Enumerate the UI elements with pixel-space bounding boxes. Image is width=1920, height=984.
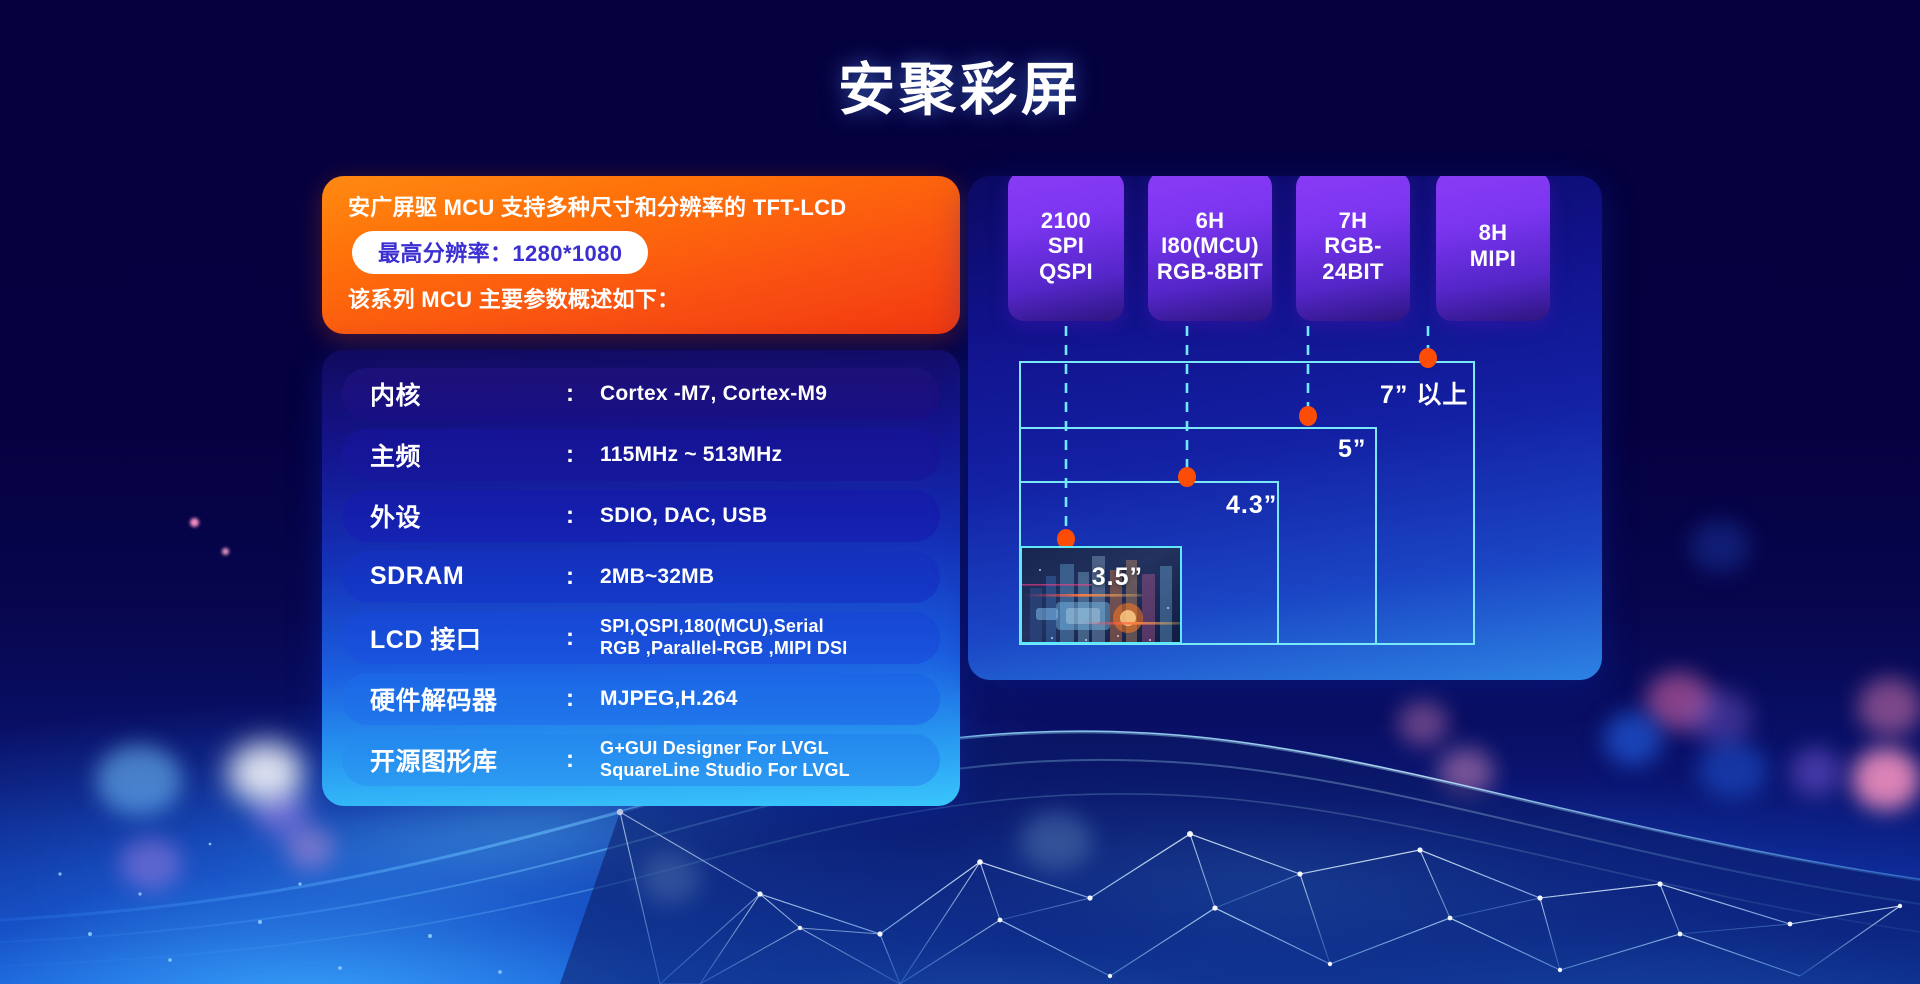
- panel-thumbnail-3p5in: 3.5”: [1020, 546, 1182, 644]
- spec-panel: 内核 : Cortex -M7, Cortex-M9 主频 : 115MHz ~…: [322, 350, 960, 806]
- network-mesh-graphic: [0, 684, 1920, 984]
- spec-separator: :: [566, 380, 600, 408]
- spec-separator: :: [566, 685, 600, 713]
- spec-separator: :: [566, 746, 600, 774]
- background: [0, 0, 1920, 984]
- bokeh-dot: [190, 518, 199, 527]
- interface-panel: 2100 SPI QSPI 6H I80(MCU) RGB-8BIT 7H RG…: [968, 176, 1602, 680]
- spec-row: 硬件解码器 : MJPEG,H.264: [342, 673, 940, 725]
- bokeh-dot: [222, 548, 229, 555]
- spec-separator: :: [566, 624, 600, 652]
- size-label-5in: 5”: [1338, 435, 1366, 464]
- spec-separator: :: [566, 441, 600, 469]
- size-label-7in: 7” 以上: [1380, 375, 1468, 411]
- spec-key: 硬件解码器: [370, 681, 566, 717]
- spec-value: G+GUI Designer For LVGL SquareLine Studi…: [600, 738, 850, 782]
- dot-7in: [1419, 348, 1437, 368]
- resolution-badge: 最高分辨率：1280*1080: [352, 231, 648, 274]
- spec-key: 内核: [370, 376, 566, 412]
- spec-value: Cortex -M7, Cortex-M9: [600, 381, 827, 407]
- spec-separator: :: [566, 502, 600, 530]
- spec-separator: :: [566, 563, 600, 591]
- size-label-43in: 4.3”: [1226, 491, 1277, 520]
- spec-value: MJPEG,H.264: [600, 686, 738, 712]
- spec-row: LCD 接口 : SPI,QSPI,180(MCU),Serial RGB ,P…: [342, 612, 940, 664]
- spec-row: 主频 : 115MHz ~ 513MHz: [342, 429, 940, 481]
- intro-headline: 安广屏驱 MCU 支持多种尺寸和分辨率的 TFT-LCD: [348, 194, 934, 222]
- intro-subline: 该系列 MCU 主要参数概述如下：: [348, 282, 934, 314]
- bokeh-dot: [1690, 520, 1750, 572]
- intro-card: 安广屏驱 MCU 支持多种尺寸和分辨率的 TFT-LCD 最高分辨率：1280*…: [322, 176, 960, 334]
- spec-value: 2MB~32MB: [600, 564, 714, 590]
- dot-4p3in: [1178, 467, 1196, 487]
- spec-value: 115MHz ~ 513MHz: [600, 442, 782, 468]
- spec-key: 外设: [370, 498, 566, 534]
- spec-row: SDRAM : 2MB~32MB: [342, 551, 940, 603]
- spec-row: 开源图形库 : G+GUI Designer For LVGL SquareLi…: [342, 734, 940, 786]
- spec-value: SPI,QSPI,180(MCU),Serial RGB ,Parallel-R…: [600, 616, 847, 660]
- spec-key: LCD 接口: [370, 620, 566, 656]
- spec-row: 外设 : SDIO, DAC, USB: [342, 490, 940, 542]
- left-column: 安广屏驱 MCU 支持多种尺寸和分辨率的 TFT-LCD 最高分辨率：1280*…: [322, 176, 960, 806]
- page-title: 安聚彩屏: [0, 44, 1920, 126]
- size-label-35in: 3.5”: [1092, 563, 1143, 592]
- spec-key: SDRAM: [370, 562, 566, 591]
- spec-value: SDIO, DAC, USB: [600, 503, 767, 529]
- spec-key: 开源图形库: [370, 742, 566, 778]
- spec-key: 主频: [370, 437, 566, 473]
- spec-row: 内核 : Cortex -M7, Cortex-M9: [342, 368, 940, 420]
- dot-5in: [1299, 406, 1317, 426]
